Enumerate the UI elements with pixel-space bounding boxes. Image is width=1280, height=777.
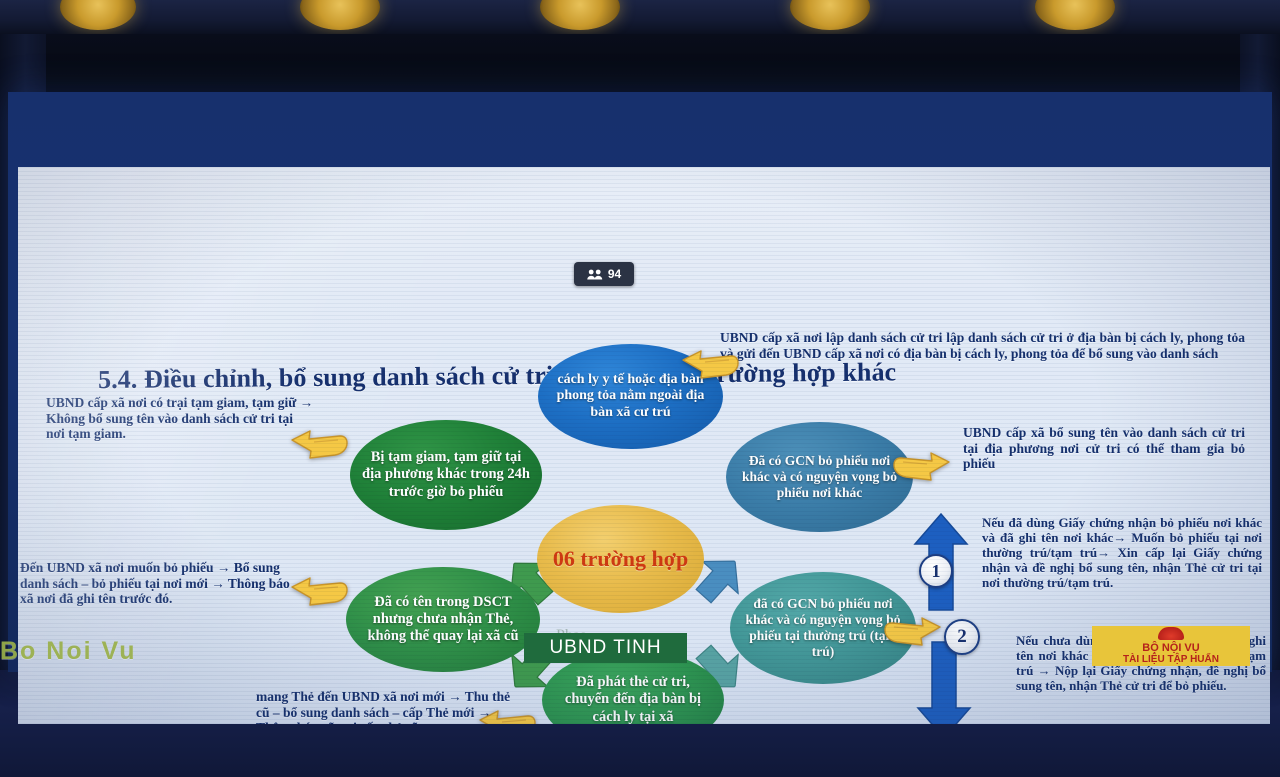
step-marker-1-label: 1 — [932, 561, 941, 582]
note-right-mid: Nếu đã dùng Giấy chứng nhận bỏ phiếu nơi… — [982, 515, 1262, 590]
national-emblem-icon — [1158, 627, 1184, 640]
step-marker-2: 2 — [944, 619, 980, 655]
pointing-hand-top — [681, 342, 739, 382]
bo-noi-vu-logo-line2: TÀI LIỆU TẬP HUẤN — [1123, 655, 1219, 666]
participant-count: 94 — [608, 267, 621, 281]
pointing-hand-bottom-left — [478, 700, 536, 724]
pointing-hand-right-bottom — [884, 607, 942, 649]
bo-noi-vu-logo: BỘ NỘI VỤ TÀI LIỆU TẬP HUẤN — [1092, 626, 1250, 666]
people-icon — [587, 269, 603, 280]
step-marker-1: 1 — [919, 554, 953, 588]
note-left-bottom: Đến UBND xã nơi muốn bỏ phiếu → Bổ sung … — [20, 560, 300, 607]
node-lower-left-label: Đã có tên trong DSCT nhưng chưa nhận Thẻ… — [358, 594, 528, 645]
ubnd-tinh-label: UBND TINH — [549, 637, 661, 659]
dark-curtain — [0, 34, 1280, 92]
note-top-right: UBND cấp xã nơi lập danh sách cử tri lập… — [720, 330, 1245, 361]
bo-noi-vu-logo-line1: BỘ NỘI VỤ — [1142, 643, 1199, 655]
ubnd-tinh-banner: UBND TINH — [524, 633, 687, 663]
projection-screen-frame: 94 5.4. Điều chỉnh, bổ sung danh sách cử… — [8, 92, 1272, 672]
participant-count-badge: 94 — [574, 262, 634, 286]
bo-noi-vu-watermark: Bo Noi Vu — [0, 637, 137, 666]
pointing-hand-left-bottom — [290, 567, 348, 609]
note-right-top: UBND cấp xã bổ sung tên vào danh sách cử… — [963, 425, 1245, 472]
note-left-top: UBND cấp xã nơi có trại tạm giam, tạm gi… — [46, 395, 314, 442]
node-center-label: 06 trường hợp — [553, 546, 688, 573]
pointing-hand-right-top — [893, 442, 951, 484]
node-upper-right-label: Đã có GCN bỏ phiếu nơi khác và có nguyện… — [738, 453, 901, 501]
node-center[interactable]: 06 trường hợp — [537, 505, 704, 613]
node-lower-left[interactable]: Đã có tên trong DSCT nhưng chưa nhận Thẻ… — [346, 567, 540, 672]
node-bottom-label: Đã phát thẻ cử tri, chuyển đến địa bàn b… — [554, 674, 712, 724]
node-lower-right-label: đã có GCN bỏ phiếu nơi khác và có nguyện… — [742, 596, 904, 660]
pointing-hand-left-top — [290, 420, 348, 462]
note-bottom-left: mang Thẻ đến UBND xã nơi mới → Thu thẻ c… — [256, 689, 514, 724]
step-marker-2-label: 2 — [957, 626, 967, 648]
node-upper-right[interactable]: Đã có GCN bỏ phiếu nơi khác và có nguyện… — [726, 422, 913, 532]
node-upper-left-label: Bị tạm giam, tạm giữ tại địa phương khác… — [362, 449, 530, 500]
node-upper-left[interactable]: Bị tạm giam, tạm giữ tại địa phương khác… — [350, 420, 542, 530]
projection-room-scene: 94 5.4. Điều chỉnh, bổ sung danh sách cử… — [0, 0, 1280, 777]
